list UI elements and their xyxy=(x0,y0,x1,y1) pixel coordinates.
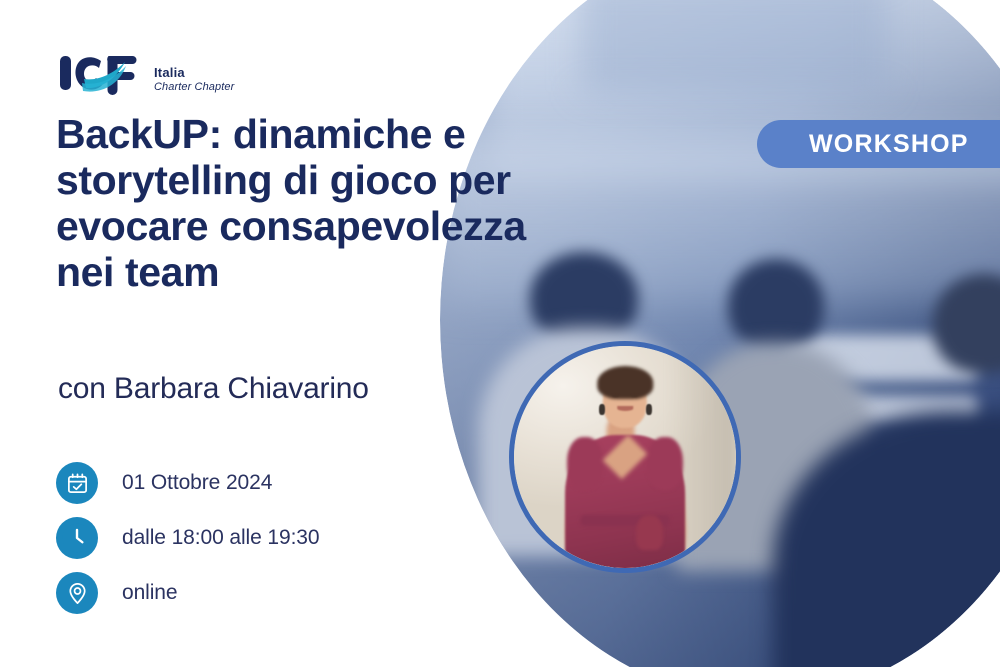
logo-chapter-type: Charter Chapter xyxy=(154,81,234,94)
detail-label-location: online xyxy=(122,581,177,605)
workshop-badge: WORKSHOP xyxy=(757,120,1000,168)
speaker-portrait xyxy=(509,341,741,573)
location-pin-icon xyxy=(56,572,98,614)
logo-chapter-name: Italia xyxy=(154,66,234,81)
content-column: Italia Charter Chapter BackUP: dinamiche… xyxy=(0,0,540,667)
calendar-check-icon xyxy=(56,462,98,504)
icf-italia-logo: Italia Charter Chapter xyxy=(58,48,234,98)
photo-screen-content xyxy=(581,0,888,92)
workshop-badge-label: WORKSHOP xyxy=(809,130,969,159)
portrait-hair xyxy=(597,366,653,399)
photo-person-head xyxy=(728,259,824,350)
event-promo-card: WORKSHOP xyxy=(0,0,1000,667)
page-title: BackUP: dinamiche e storytelling di gioc… xyxy=(56,112,556,296)
portrait-sleeve-right xyxy=(647,437,683,490)
detail-label-date: 01 Ottobre 2024 xyxy=(122,471,272,495)
detail-row-time: dalle 18:00 alle 19:30 xyxy=(56,517,319,559)
icf-logo-icon xyxy=(58,48,144,98)
speaker-portrait-photo xyxy=(514,346,736,568)
portrait-belt-knot xyxy=(636,515,663,551)
clock-icon xyxy=(56,517,98,559)
detail-row-location: online xyxy=(56,572,319,614)
event-details: 01 Ottobre 2024 dalle 18:00 alle 19:30 xyxy=(56,462,319,614)
presenter-name: con Barbara Chiavarino xyxy=(58,372,369,406)
portrait-earring-right xyxy=(646,404,651,415)
portrait-sleeve-left xyxy=(567,437,603,490)
portrait-earring-left xyxy=(599,404,604,415)
logo-wordmark: Italia Charter Chapter xyxy=(154,66,234,98)
detail-row-date: 01 Ottobre 2024 xyxy=(56,462,319,504)
detail-label-time: dalle 18:00 alle 19:30 xyxy=(122,526,319,550)
portrait-smile xyxy=(617,406,633,411)
